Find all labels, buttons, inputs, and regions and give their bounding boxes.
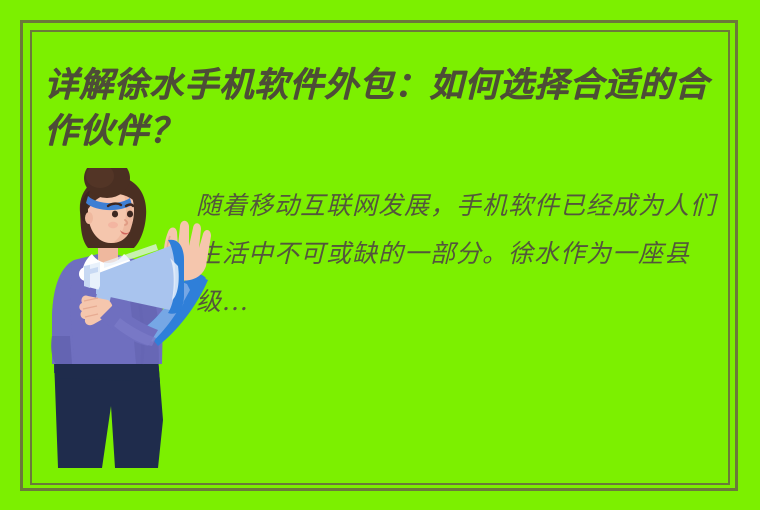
pants-shape [54, 358, 163, 468]
article-excerpt: 随着移动互联网发展，手机软件已经成为人们生活中不可或缺的一部分。徐水作为一座县级… [196, 182, 726, 326]
illustration-woman-with-megaphone [40, 168, 230, 498]
head-shape [80, 168, 146, 248]
article-card: 详解徐水手机软件外包：如何选择合适的合作伙伴？ 随着移动互联网发展，手机软件已经… [0, 0, 760, 510]
article-title: 详解徐水手机软件外包：如何选择合适的合作伙伴？ [44, 62, 730, 154]
